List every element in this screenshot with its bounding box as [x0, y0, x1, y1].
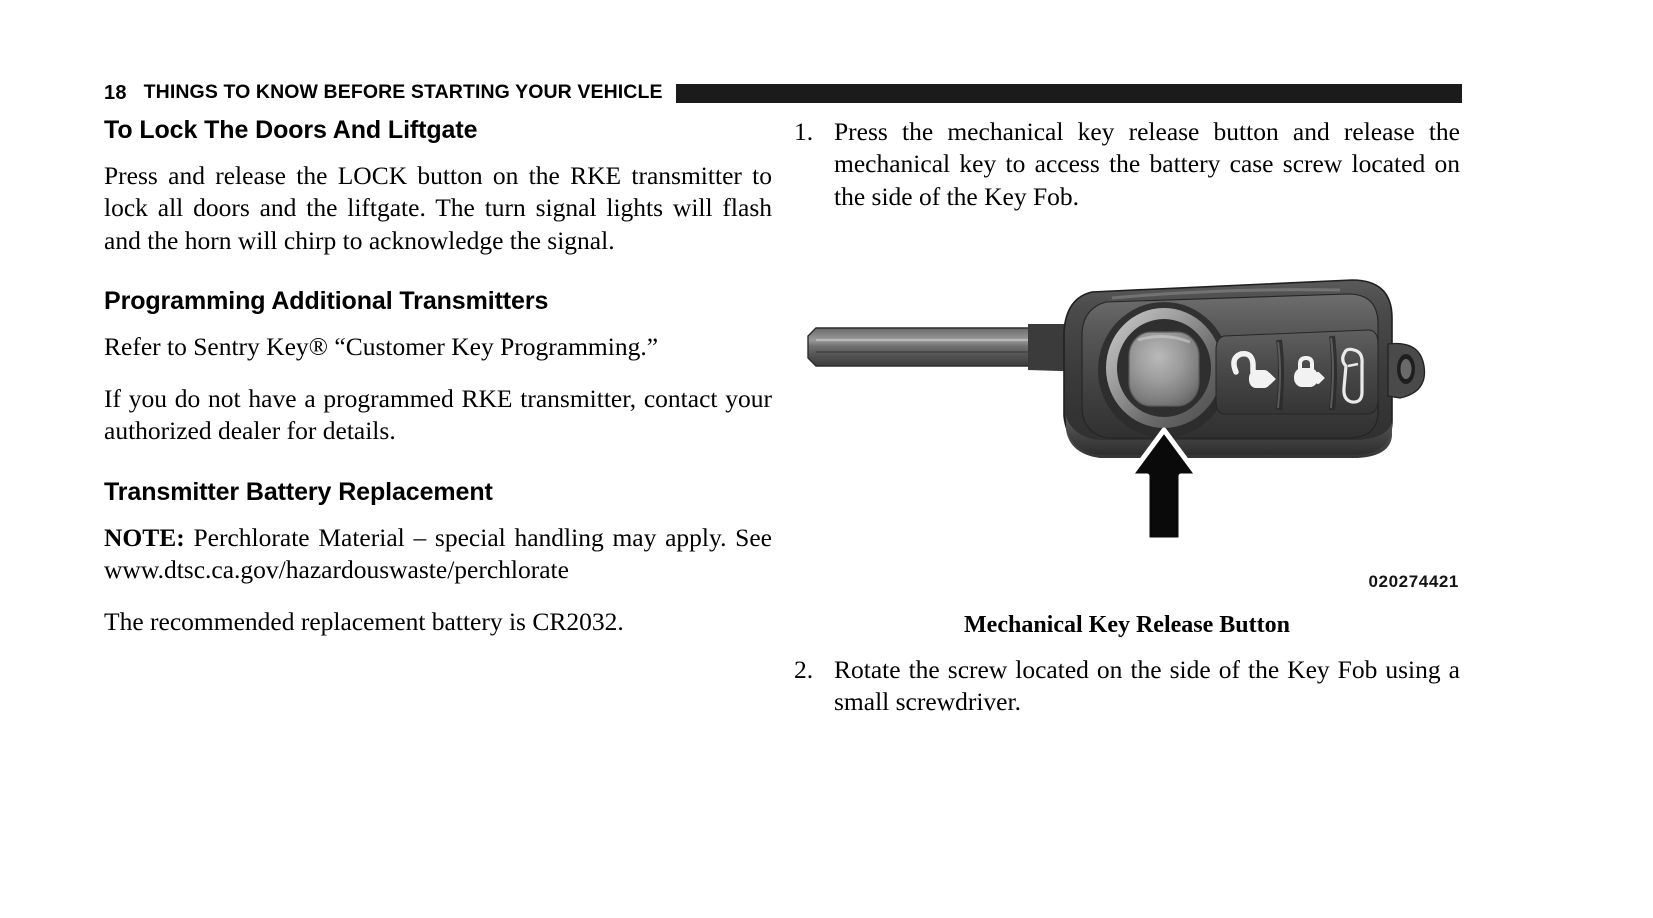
figure-key-fob: 020274421 Mechanical Key Release Button	[792, 240, 1462, 640]
right-column: 1. Press the mechanical key release butt…	[792, 116, 1460, 213]
step-number: 1.	[794, 116, 826, 148]
key-ring-lug	[1388, 343, 1425, 398]
note-text: Perchlorate Material – special handling …	[104, 523, 772, 584]
paragraph-replacement-battery: The recommended replacement battery is C…	[104, 606, 772, 638]
key-fob-illustration	[792, 240, 1462, 600]
section-heading-lock-doors: To Lock The Doors And Liftgate	[104, 116, 772, 144]
right-column-step2: 2. Rotate the screw located on the side …	[792, 654, 1460, 719]
section-heading-battery-replacement: Transmitter Battery Replacement	[104, 478, 772, 506]
running-head-title: THINGS TO KNOW BEFORE STARTING YOUR VEHI…	[144, 83, 663, 103]
button-strip	[1216, 330, 1378, 414]
page-header: 18 THINGS TO KNOW BEFORE STARTING YOUR V…	[104, 80, 1462, 106]
paragraph-lock-doors: Press and release the LOCK button on the…	[104, 160, 772, 257]
paragraph-no-programmed-transmitter: If you do not have a programmed RKE tran…	[104, 383, 772, 448]
left-column: To Lock The Doors And Liftgate Press and…	[104, 116, 772, 638]
paragraph-perchlorate-note: NOTE: Perchlorate Material – special han…	[104, 522, 772, 587]
figure-caption: Mechanical Key Release Button	[792, 612, 1462, 639]
page-number: 18	[104, 83, 144, 103]
steps-list-continued: 2. Rotate the screw located on the side …	[792, 654, 1460, 719]
note-label: NOTE:	[104, 523, 185, 552]
step-item-1: 1. Press the mechanical key release butt…	[792, 116, 1460, 213]
mechanical-key-blade	[808, 328, 1042, 366]
figure-part-number: 020274421	[792, 572, 1462, 592]
step-text: Rotate the screw located on the side of …	[834, 655, 1460, 716]
step-number: 2.	[794, 654, 826, 686]
section-heading-programming-transmitters: Programming Additional Transmitters	[104, 287, 772, 315]
steps-list: 1. Press the mechanical key release butt…	[792, 116, 1460, 213]
mechanical-key-release-button[interactable]	[1098, 302, 1230, 438]
paragraph-sentry-key: Refer to Sentry Key® “Customer Key Progr…	[104, 331, 772, 363]
key-fob-svg	[792, 240, 1462, 600]
manual-page: 18 THINGS TO KNOW BEFORE STARTING YOUR V…	[0, 0, 1653, 918]
step-item-2: 2. Rotate the screw located on the side …	[792, 654, 1460, 719]
step-text: Press the mechanical key release button …	[834, 117, 1460, 211]
header-rule	[676, 84, 1462, 103]
